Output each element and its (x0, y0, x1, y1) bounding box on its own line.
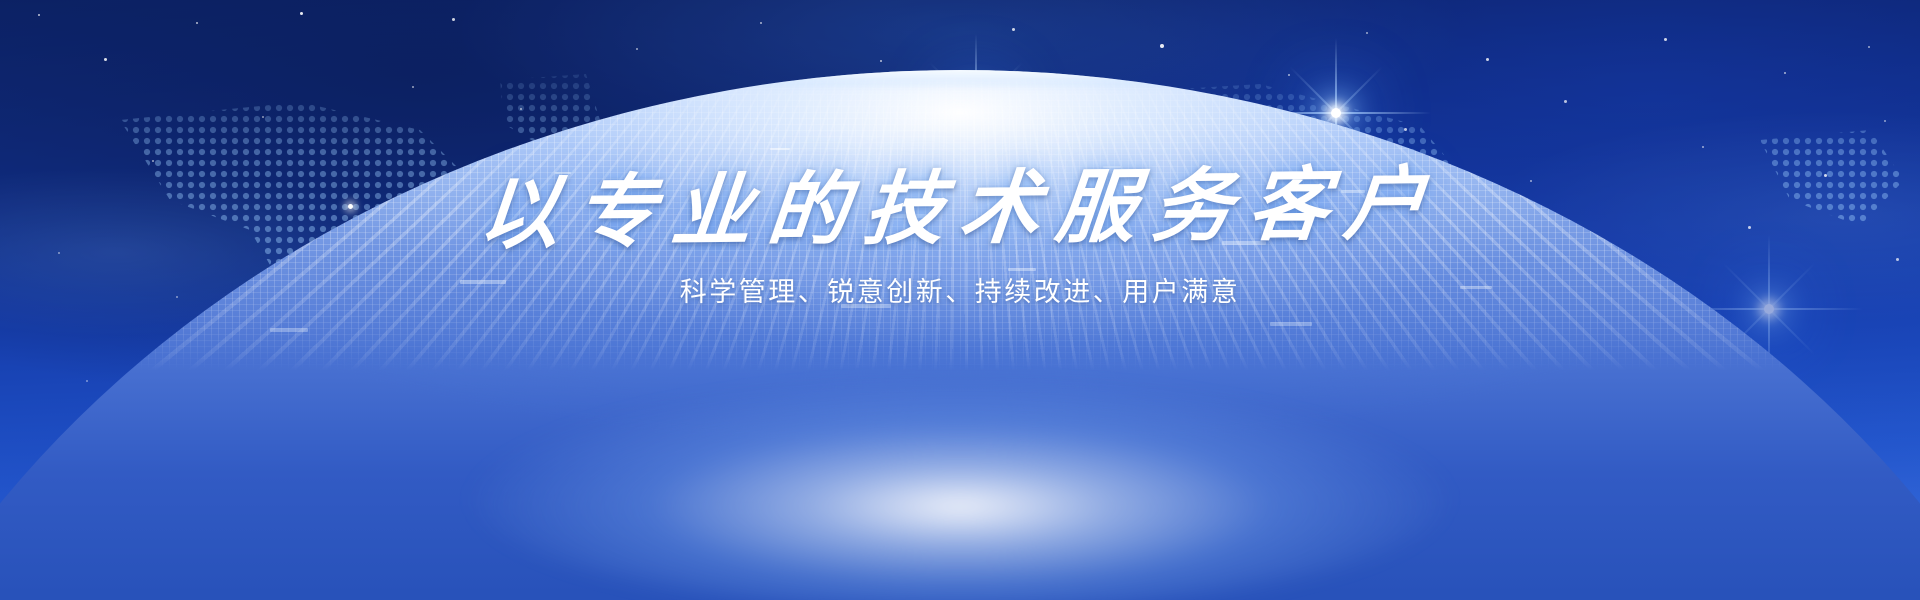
city-lights (0, 70, 1920, 370)
hero-banner: 以专业的技术服务客户 科学管理、锐意创新、持续改进、用户满意 (0, 0, 1920, 600)
earth-horizon-arc (0, 70, 1920, 600)
